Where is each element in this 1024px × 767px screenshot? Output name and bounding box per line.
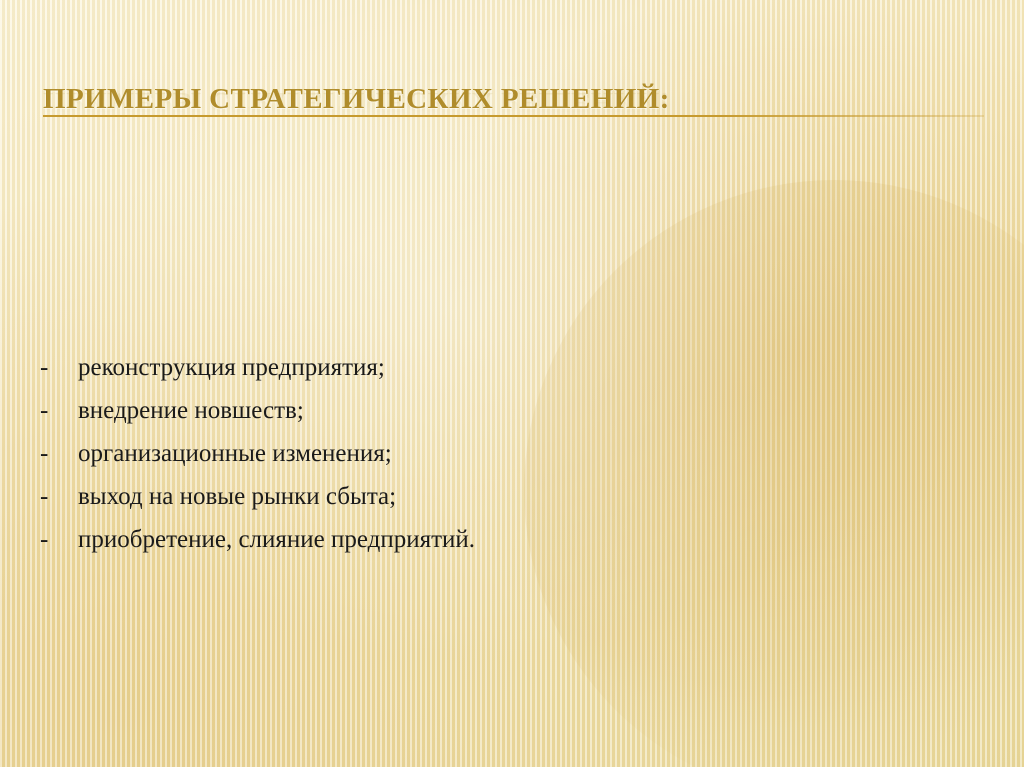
list-item: - организационные изменения;: [40, 438, 964, 470]
list-item-label: внедрение новшеств;: [78, 395, 304, 427]
list-item-label: приобретение, слияние предприятий.: [78, 524, 475, 556]
bullet-marker-icon: -: [40, 438, 78, 470]
list-item: - приобретение, слияние предприятий.: [40, 524, 964, 556]
bullet-list: - реконструкция предприятия; - внедрение…: [40, 352, 964, 567]
list-item: - внедрение новшеств;: [40, 395, 964, 427]
bullet-marker-icon: -: [40, 352, 78, 384]
slide-title-block: Примеры стратегических решений: Примеры …: [43, 82, 984, 142]
bullet-marker-icon: -: [40, 481, 78, 513]
list-item-label: организационные изменения;: [78, 438, 392, 470]
presentation-slide: Примеры стратегических решений: Примеры …: [0, 0, 1024, 767]
list-item: - реконструкция предприятия;: [40, 352, 964, 384]
bullet-marker-icon: -: [40, 395, 78, 427]
list-item: - выход на новые рынки сбыта;: [40, 481, 964, 513]
list-item-label: реконструкция предприятия;: [78, 352, 385, 384]
page-title: Примеры стратегических решений:: [43, 82, 670, 116]
list-item-label: выход на новые рынки сбыта;: [78, 481, 396, 513]
title-divider: [43, 115, 984, 117]
bullet-marker-icon: -: [40, 524, 78, 556]
